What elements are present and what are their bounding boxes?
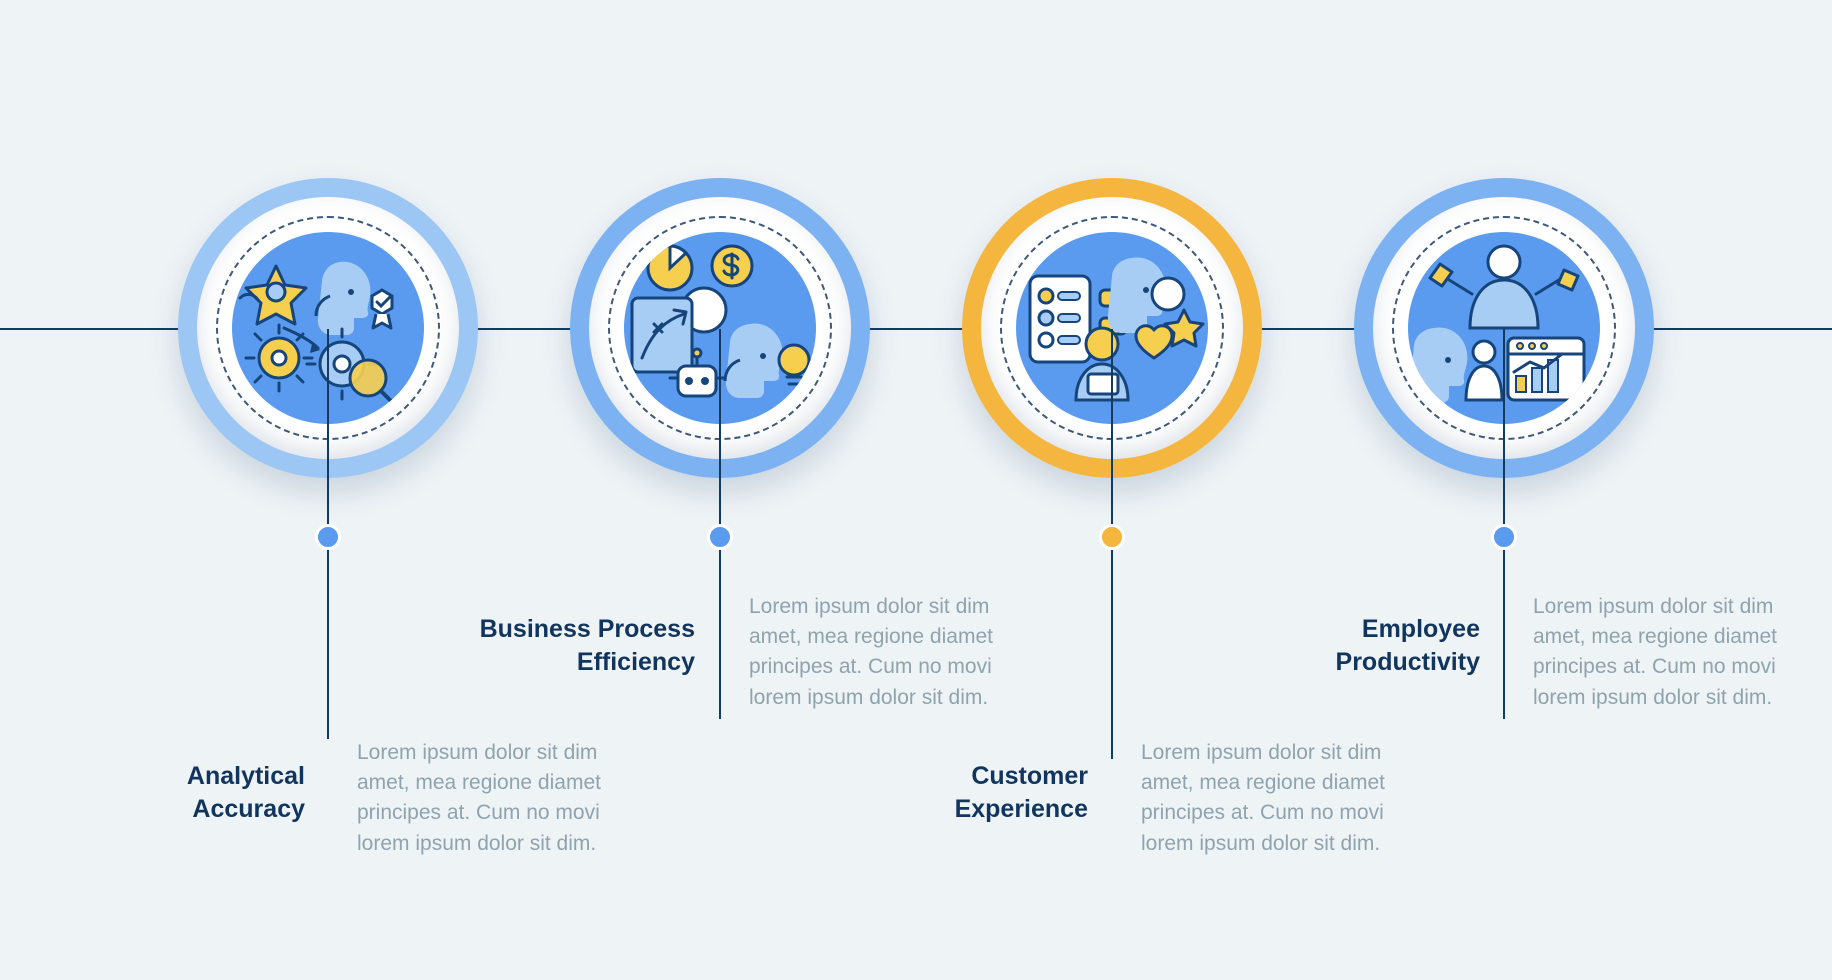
step-body-analytical-accuracy: Lorem ipsum dolor sit dim amet, mea regi… [357,738,622,859]
step-title-employee-productivity: Employee Productivity [1250,613,1480,679]
infographic-canvas: Analytical Accuracy Lorem ipsum dolor si… [0,0,1832,980]
step-title-analytical-accuracy: Analytical Accuracy [90,760,305,826]
node-dot-analytical-accuracy[interactable] [315,524,341,550]
step-body-business-process-efficiency: Lorem ipsum dolor sit dim amet, mea regi… [749,592,1014,713]
step-title-customer-experience: Customer Experience [880,760,1088,826]
node-dot-customer-experience[interactable] [1099,524,1125,550]
node-dot-employee-productivity[interactable] [1491,524,1517,550]
step-title-business-process-efficiency: Business Process Efficiency [410,613,695,679]
step-body-customer-experience: Lorem ipsum dolor sit dim amet, mea regi… [1141,738,1406,859]
step-body-employee-productivity: Lorem ipsum dolor sit dim amet, mea regi… [1533,592,1798,713]
node-dot-business-process-efficiency[interactable] [707,524,733,550]
